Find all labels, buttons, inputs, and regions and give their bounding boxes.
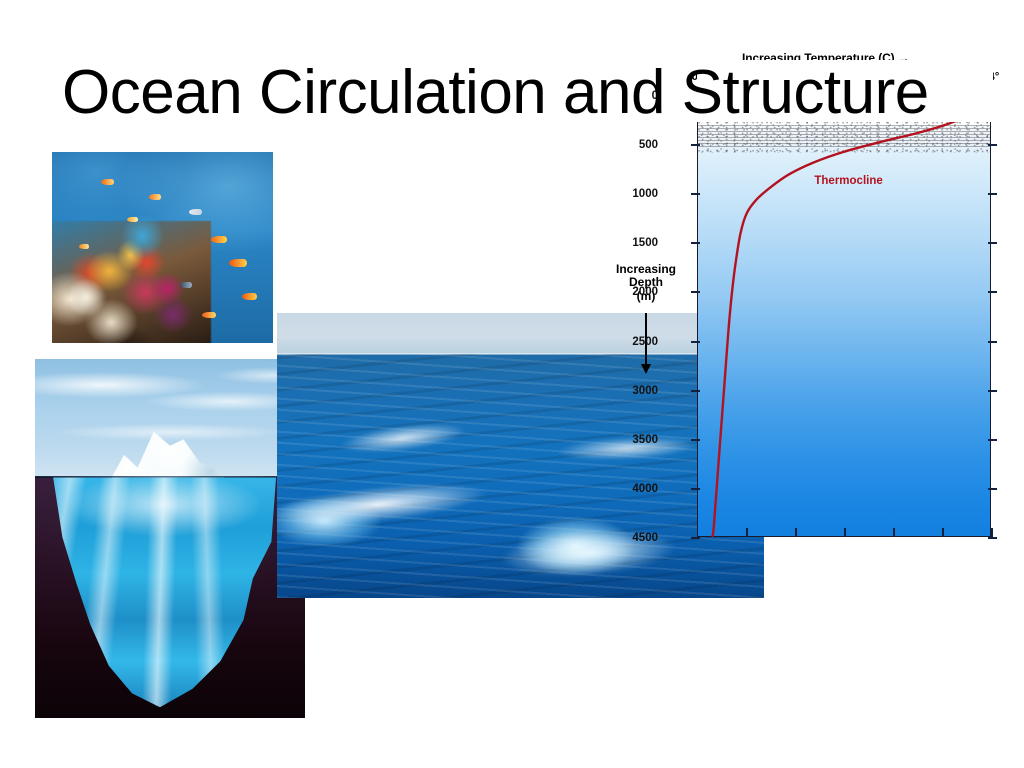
coral-reef-photo[interactable] [52,152,273,343]
fish-icon [229,259,247,267]
chart-y-tick-label: 2000 [632,286,658,298]
chart-y-axis-title-line-1: Increasing [600,263,692,276]
chart-y-tick-label: 4000 [632,483,658,495]
chart-y-tick-label: 3000 [632,385,658,397]
temperature-profile-curve [698,96,990,536]
fish-icon [127,217,138,222]
fish-icon [149,194,161,200]
chart-y-tick-label: 500 [639,139,658,151]
chart-y-tick-label: 4500 [632,532,658,544]
chart-y-tick-label: 1000 [632,188,658,200]
slide-canvas: Increasing Temperature (C) → 0°4°8°12°16… [0,0,1024,768]
chart-x-tick-mark [991,528,993,537]
coral-reef-foreground [105,202,180,278]
fish-icon [202,312,216,318]
page-title: Ocean Circulation and Structure [62,62,962,124]
thermocline-annotation: Thermocline [814,175,882,187]
chart-plot-area: 050010001500200025003000350040004500 The… [697,95,991,537]
chart-y-tick-label: 1500 [632,237,658,249]
fish-icon [211,236,227,243]
iceberg-photo[interactable] [35,359,305,718]
fish-icon [189,209,202,215]
chart-y-tick-mark [691,537,700,539]
chart-y-tick-label: 3500 [632,434,658,446]
fish-icon [79,244,89,249]
fish-icon [180,282,192,288]
fish-icon [242,293,257,300]
chart-y-tick-label: 2500 [632,336,658,348]
chart-y-tick-mark-right [988,537,997,539]
fish-icon [101,179,114,185]
iceberg-waterline [35,476,305,478]
